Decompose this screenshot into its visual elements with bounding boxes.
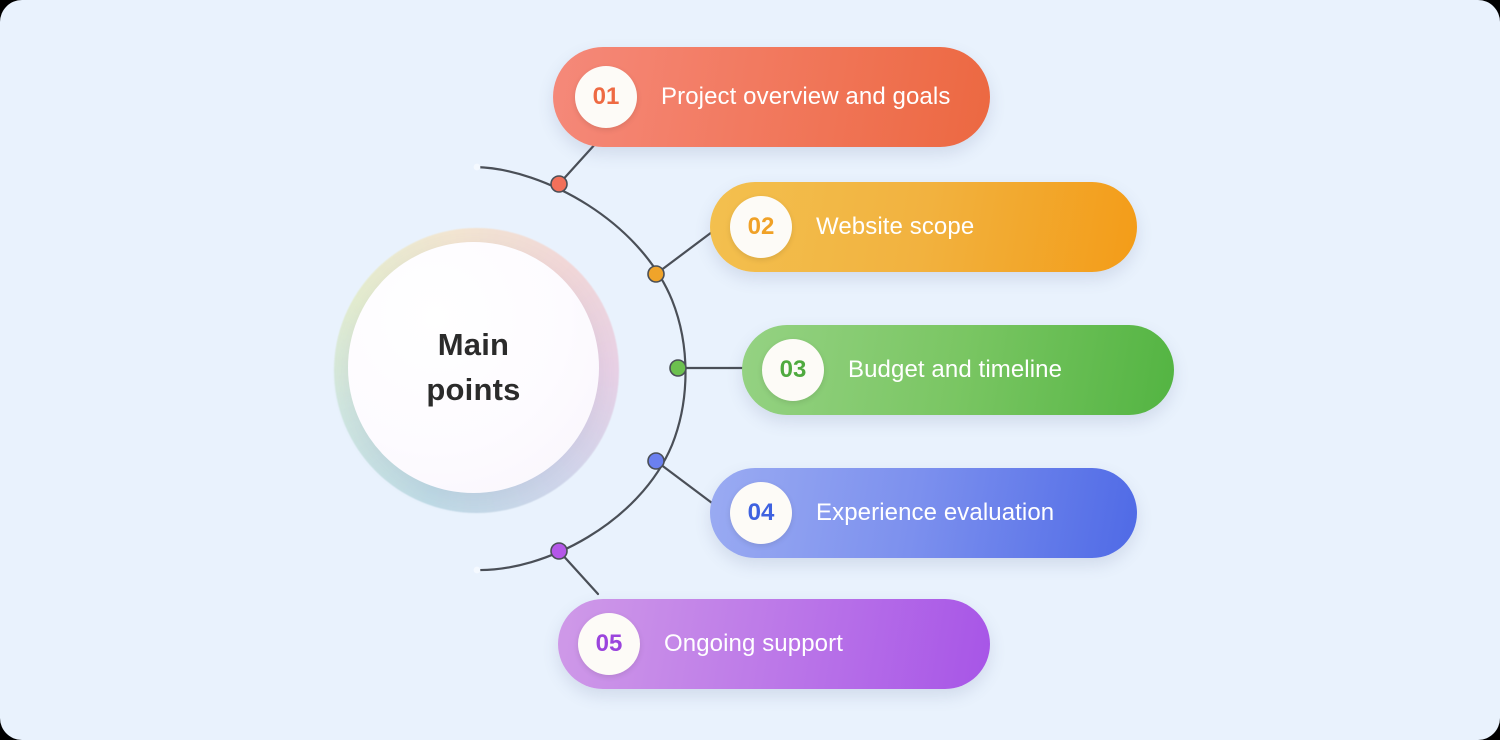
- item-label-4: Experience evaluation: [816, 497, 1054, 529]
- item-label-2: Website scope: [816, 211, 974, 243]
- list-item-2[interactable]: 02 Website scope: [710, 182, 1137, 272]
- list-item-4[interactable]: 04 Experience evaluation: [710, 468, 1137, 558]
- list-item-3[interactable]: 03 Budget and timeline: [742, 325, 1174, 415]
- list-item-1[interactable]: 01 Project overview and goals: [553, 47, 990, 147]
- node-dot-5: [551, 543, 567, 559]
- spoke-2: [656, 232, 712, 274]
- list-item-5[interactable]: 05 Ongoing support: [558, 599, 990, 689]
- spoke-4: [656, 461, 712, 503]
- hub-title: Main points: [426, 323, 520, 411]
- hub-inner-circle: Main points: [348, 242, 599, 493]
- item-number-badge-3: 03: [762, 339, 824, 401]
- item-number-badge-5: 05: [578, 613, 640, 675]
- item-number-badge-4: 04: [730, 482, 792, 544]
- arc-end-bottom: [474, 567, 481, 574]
- item-label-1: Project overview and goals: [661, 81, 950, 113]
- arc-end-top: [474, 164, 481, 171]
- item-label-3: Budget and timeline: [848, 354, 1062, 386]
- node-dot-3: [670, 360, 686, 376]
- center-hub: Main points: [334, 228, 619, 513]
- node-dot-1: [551, 176, 567, 192]
- item-number-badge-2: 02: [730, 196, 792, 258]
- node-dot-2: [648, 266, 664, 282]
- infographic-canvas: Main points 01 Project overview and goal…: [0, 0, 1500, 740]
- node-dot-4: [648, 453, 664, 469]
- spoke-5: [559, 551, 598, 594]
- item-number-badge-1: 01: [575, 66, 637, 128]
- spoke-1: [559, 142, 597, 184]
- item-label-5: Ongoing support: [664, 628, 843, 660]
